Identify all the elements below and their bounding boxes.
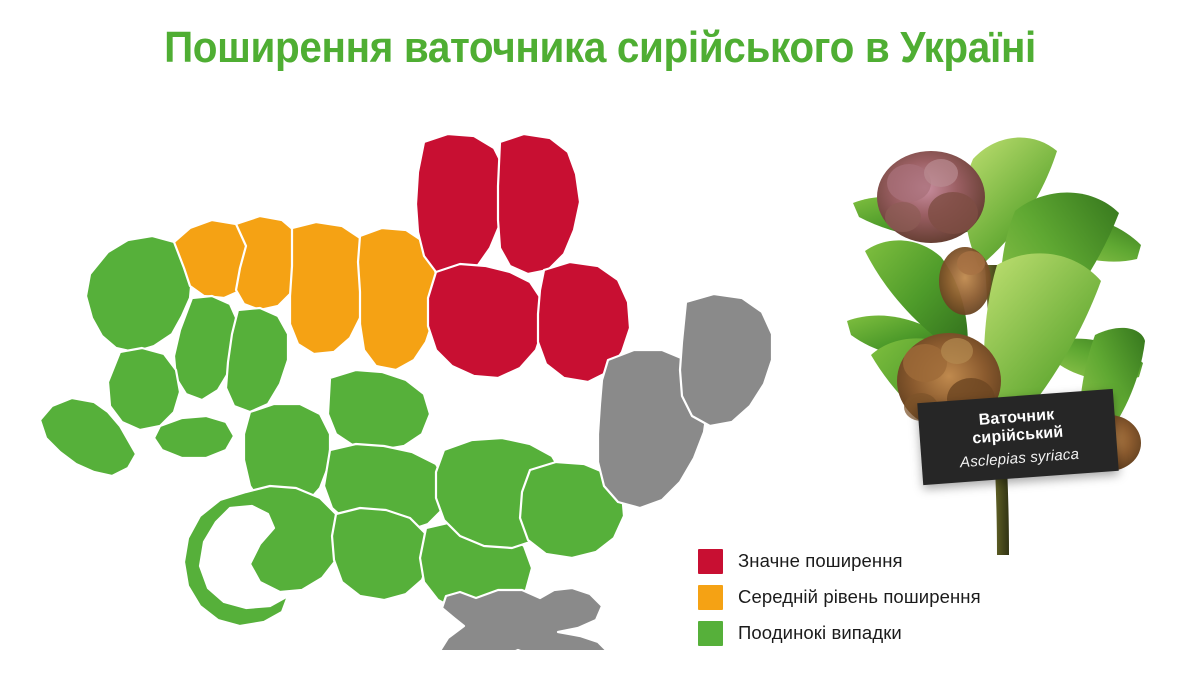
region-sumy[interactable] [498, 134, 580, 274]
region-zhytomyr[interactable] [290, 222, 368, 354]
region-chernivtsi[interactable] [154, 416, 234, 458]
region-chernihiv[interactable] [416, 134, 506, 278]
plant-illustration [845, 125, 1145, 575]
oblast-group [40, 134, 772, 650]
region-khmelnytskyi[interactable] [226, 308, 288, 412]
plant-photo [845, 125, 1145, 575]
plant-latin-name: Asclepias syriaca [959, 446, 1079, 472]
legend-label-low: Поодинокі випадки [738, 622, 902, 644]
legend-item-medium[interactable]: Середній рівень поширення [698, 579, 1028, 615]
legend-item-low[interactable]: Поодинокі випадки [698, 615, 1028, 651]
map-svg [24, 120, 784, 650]
legend-label-medium: Середній рівень поширення [738, 586, 981, 608]
legend-swatch-medium [698, 585, 723, 610]
region-mykolaiv[interactable] [332, 508, 430, 600]
region-cherkasy[interactable] [328, 370, 430, 450]
region-lviv[interactable] [86, 236, 192, 352]
region-luhansk[interactable] [680, 294, 772, 426]
region-crimea[interactable] [438, 588, 610, 650]
legend-swatch-low [698, 621, 723, 646]
region-ivano-frankivsk[interactable] [108, 348, 180, 430]
region-poltava[interactable] [428, 264, 544, 378]
plant-name-card: Ваточник сирійський Asclepias syriaca [917, 389, 1118, 485]
page-title: Поширення ваточника сирійського в Україн… [48, 24, 1152, 72]
region-odesa[interactable] [184, 486, 342, 626]
legend-swatch-high [698, 549, 723, 574]
ukraine-distribution-map [24, 120, 784, 650]
